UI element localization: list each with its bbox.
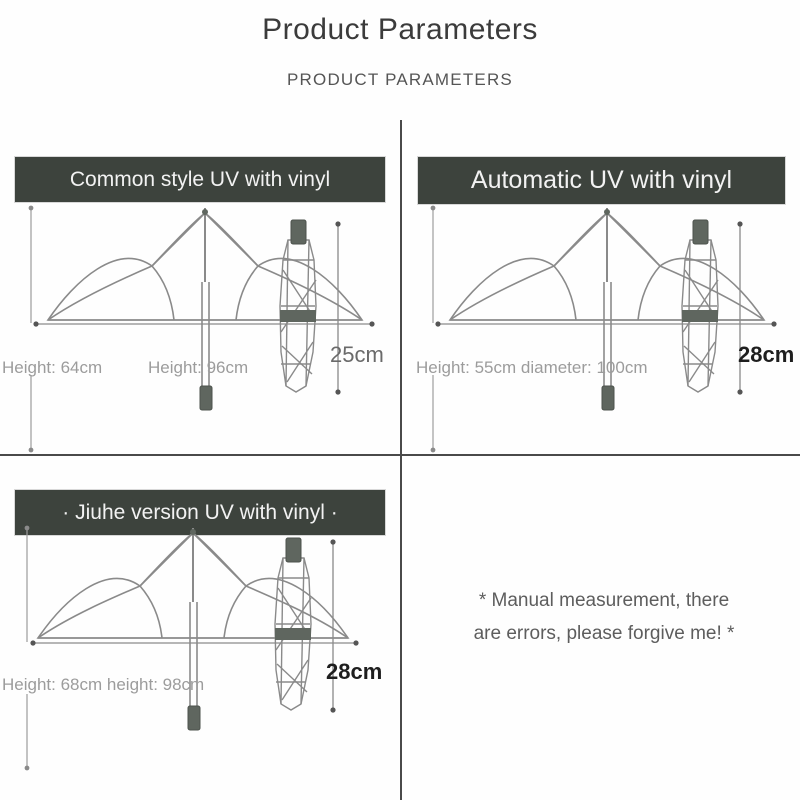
dimension-label-folded-length: 28cm <box>326 659 382 685</box>
measurement-disclaimer: * Manual measurement, there are errors, … <box>444 584 764 650</box>
product-parameters-infographic: Product Parameters PRODUCT PARAMETERS Co… <box>0 0 800 800</box>
quadrant-common-style: Common style UV with vinyl <box>0 120 400 454</box>
quadrant-automatic: Automatic UV with vinyl <box>402 120 800 454</box>
diagram-common-style <box>0 120 400 454</box>
disclaimer-line-2: are errors, please forgive me! * <box>444 617 764 650</box>
diagram-automatic <box>402 120 800 454</box>
page-title: Product Parameters <box>0 13 800 47</box>
dimension-label-height-height: Height: 68cm height: 98cm <box>2 675 204 695</box>
dimension-label-height-diameter: Height: 55cm diameter: 100cm <box>416 358 648 378</box>
page-subtitle: PRODUCT PARAMETERS <box>0 70 800 90</box>
quadrant-note: * Manual measurement, there are errors, … <box>402 456 800 790</box>
disclaimer-line-1: * Manual measurement, there <box>444 584 764 617</box>
dimension-label-height-vertical: Height: 64cm <box>2 358 102 378</box>
dimension-label-folded-length: 25cm <box>330 342 384 368</box>
dimension-label-folded-length: 28cm <box>738 342 794 368</box>
diagram-jiuhe-version <box>0 456 400 790</box>
quadrant-jiuhe-version: · Jiuhe version UV with vinyl · <box>0 456 400 790</box>
dimension-label-height-horizontal: Height: 96cm <box>148 358 248 378</box>
